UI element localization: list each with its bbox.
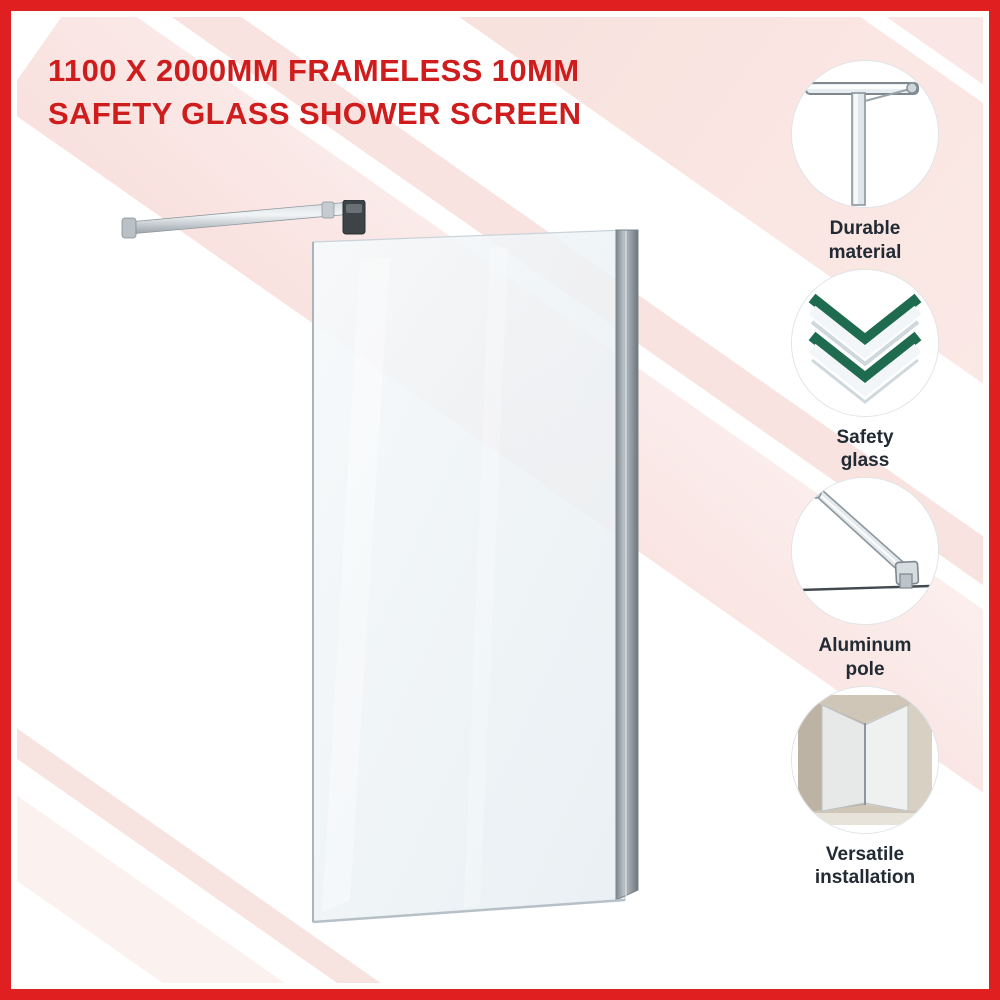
feature-list: Durable material Safety glass bbox=[760, 60, 970, 894]
product-listing-image: 1100 x 2000mm Frameless 10mm Safety Glas… bbox=[0, 0, 1000, 1000]
feature-aluminum-pole: Aluminum pole bbox=[760, 477, 970, 682]
vertical-post bbox=[616, 230, 638, 900]
product-image bbox=[60, 200, 740, 960]
safety-line-1: Safety bbox=[836, 427, 893, 448]
safety-line-2: glass bbox=[841, 450, 890, 471]
aluminum-line-2: pole bbox=[845, 659, 884, 680]
shower-screen-illustration bbox=[60, 200, 740, 960]
versatile-line-2: installation bbox=[815, 867, 915, 888]
aluminum-support-bar bbox=[122, 200, 365, 238]
durable-line-2: material bbox=[829, 242, 902, 263]
shower-corner-icon bbox=[792, 687, 938, 833]
aluminum-pole-label: Aluminum pole bbox=[780, 634, 950, 682]
versatile-installation-thumb bbox=[791, 686, 939, 834]
durable-material-label: Durable material bbox=[780, 217, 950, 265]
durable-line-1: Durable bbox=[830, 218, 901, 239]
durable-material-thumb bbox=[791, 60, 939, 208]
feature-versatile-installation: Versatile installation bbox=[760, 686, 970, 891]
aluminum-line-1: Aluminum bbox=[819, 635, 912, 656]
support-pole-icon bbox=[792, 478, 938, 624]
bracket-bar-icon bbox=[792, 61, 938, 207]
glass-layers-icon bbox=[792, 270, 938, 416]
aluminum-pole-thumb bbox=[791, 477, 939, 625]
page-title: 1100 x 2000mm Frameless 10mm Safety Glas… bbox=[48, 50, 668, 136]
feature-safety-glass: Safety glass bbox=[760, 269, 970, 474]
safety-glass-label: Safety glass bbox=[780, 426, 950, 474]
feature-durable-material: Durable material bbox=[760, 60, 970, 265]
versatile-line-1: Versatile bbox=[826, 844, 904, 865]
versatile-installation-label: Versatile installation bbox=[780, 843, 950, 891]
safety-glass-thumb bbox=[791, 269, 939, 417]
